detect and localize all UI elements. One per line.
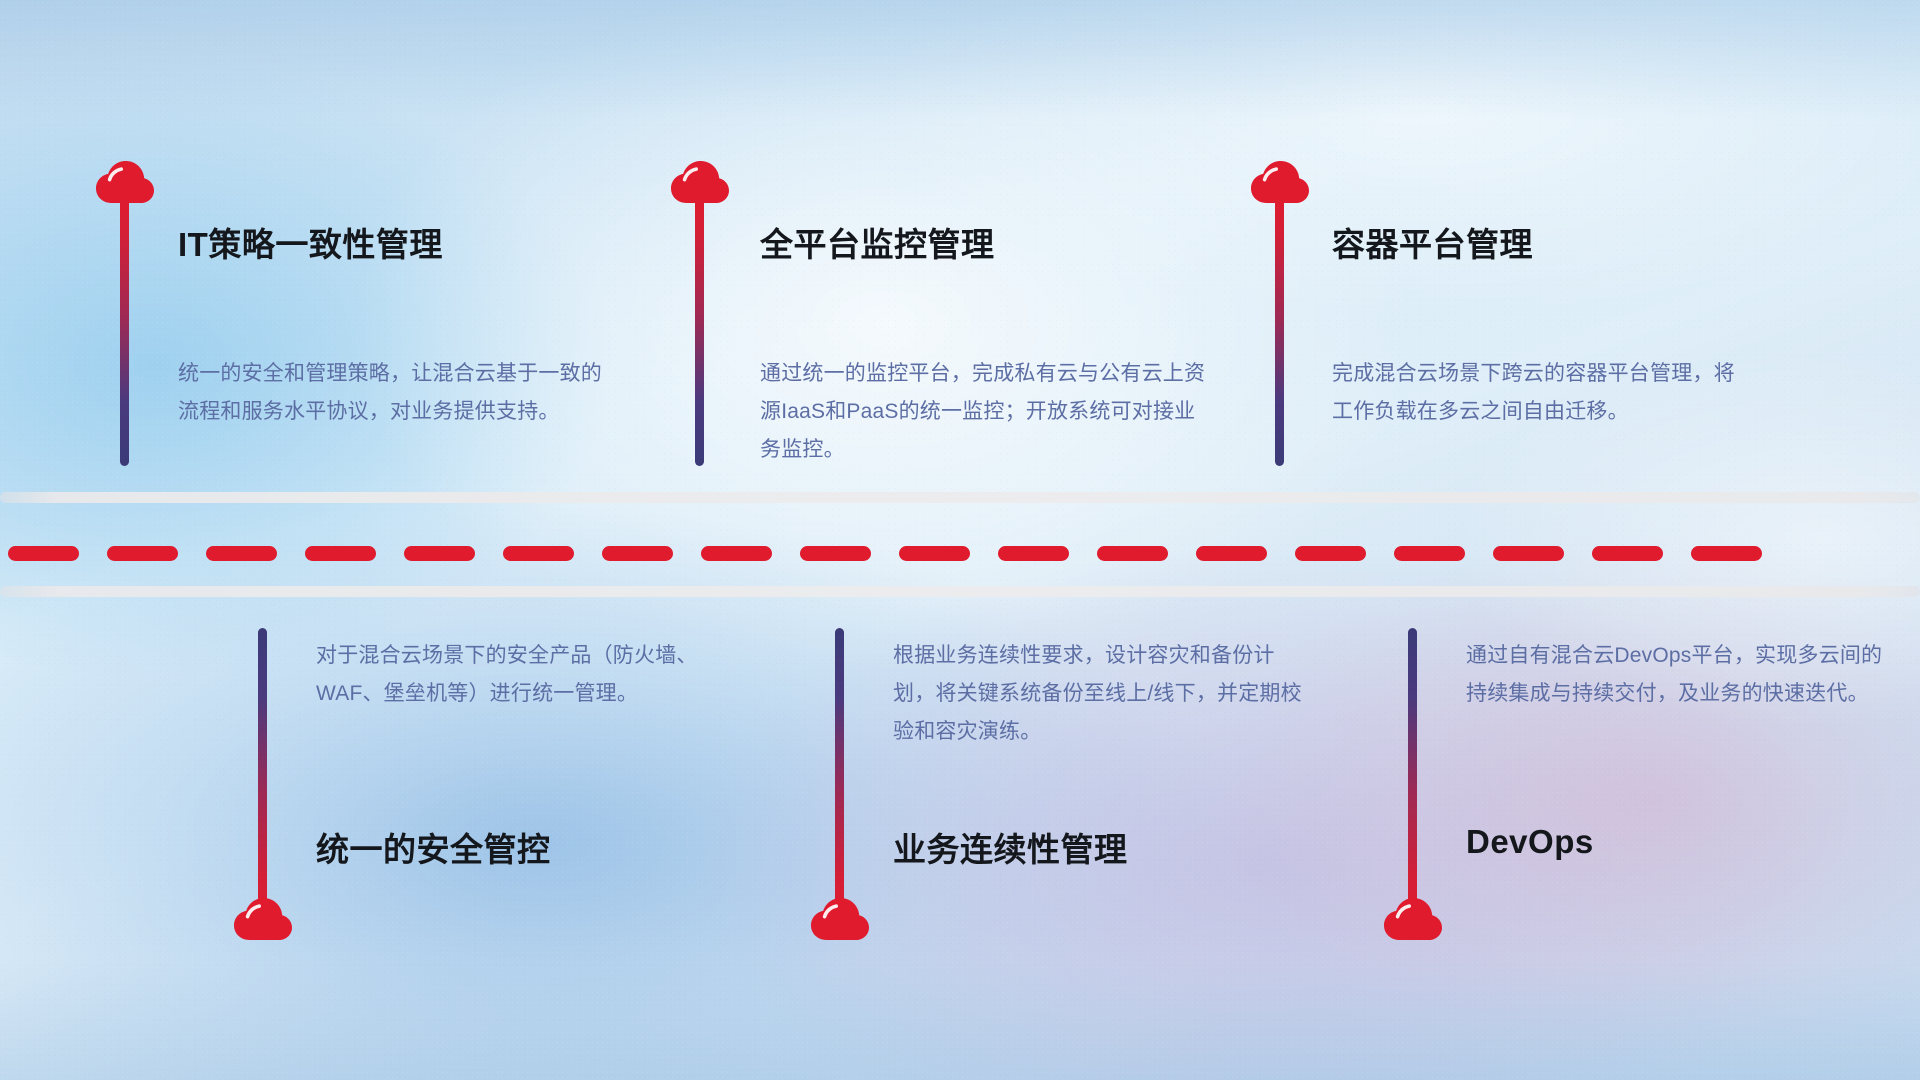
road-dash bbox=[1691, 546, 1762, 561]
road-dash bbox=[1295, 546, 1366, 561]
road-dash bbox=[305, 546, 376, 561]
panel-body-text: 通过自有混合云DevOps平台，实现多云间的持续集成与持续交付，及业务的快速迭代… bbox=[1466, 637, 1886, 713]
panel-title: 业务连续性管理 bbox=[893, 823, 1128, 871]
stem-connector bbox=[120, 196, 129, 466]
panel-body-text: 完成混合云场景下跨云的容器平台管理，将工作负载在多云之间自由迁移。 bbox=[1332, 355, 1752, 431]
panel-title: 全平台监控管理 bbox=[760, 218, 995, 266]
cloud-icon bbox=[810, 897, 870, 941]
road-dash bbox=[1097, 546, 1168, 561]
road-dash bbox=[206, 546, 277, 561]
road-dashed-line bbox=[0, 546, 1920, 561]
road-dash bbox=[404, 546, 475, 561]
panel-title: 统一的安全管控 bbox=[316, 823, 551, 871]
panel-title: 容器平台管理 bbox=[1332, 218, 1533, 266]
panel-body-text: 统一的安全和管理策略，让混合云基于一致的流程和服务水平协议，对业务提供支持。 bbox=[178, 355, 610, 431]
road-dash bbox=[1493, 546, 1564, 561]
road-dash bbox=[8, 546, 79, 561]
panel-body-text: 通过统一的监控平台，完成私有云与公有云上资源IaaS和PaaS的统一监控；开放系… bbox=[760, 355, 1210, 469]
stem-connector bbox=[695, 196, 704, 466]
panel-body-text: 根据业务连续性要求，设计容灾和备份计划，将关键系统备份至线上/线下，并定期校验和… bbox=[893, 637, 1313, 751]
road-dash bbox=[602, 546, 673, 561]
road-dash bbox=[899, 546, 970, 561]
panel-body-text: 对于混合云场景下的安全产品（防火墙、WAF、堡垒机等）进行统一管理。 bbox=[316, 637, 736, 713]
road-dash bbox=[107, 546, 178, 561]
road-dash bbox=[1196, 546, 1267, 561]
stem-connector bbox=[1408, 628, 1417, 918]
road-dash bbox=[1592, 546, 1663, 561]
panel-title: DevOps bbox=[1466, 823, 1594, 861]
road-line-top bbox=[0, 492, 1920, 503]
cloud-icon bbox=[1383, 897, 1443, 941]
panel-title: IT策略一致性管理 bbox=[178, 218, 443, 266]
road-dash bbox=[998, 546, 1069, 561]
road-dash bbox=[503, 546, 574, 561]
road-dash bbox=[701, 546, 772, 561]
road-line-bottom bbox=[0, 586, 1920, 597]
road-dash bbox=[800, 546, 871, 561]
stem-connector bbox=[258, 628, 267, 918]
stem-connector bbox=[1275, 196, 1284, 466]
road-dash bbox=[1394, 546, 1465, 561]
cloud-icon bbox=[233, 897, 293, 941]
stem-connector bbox=[835, 628, 844, 918]
